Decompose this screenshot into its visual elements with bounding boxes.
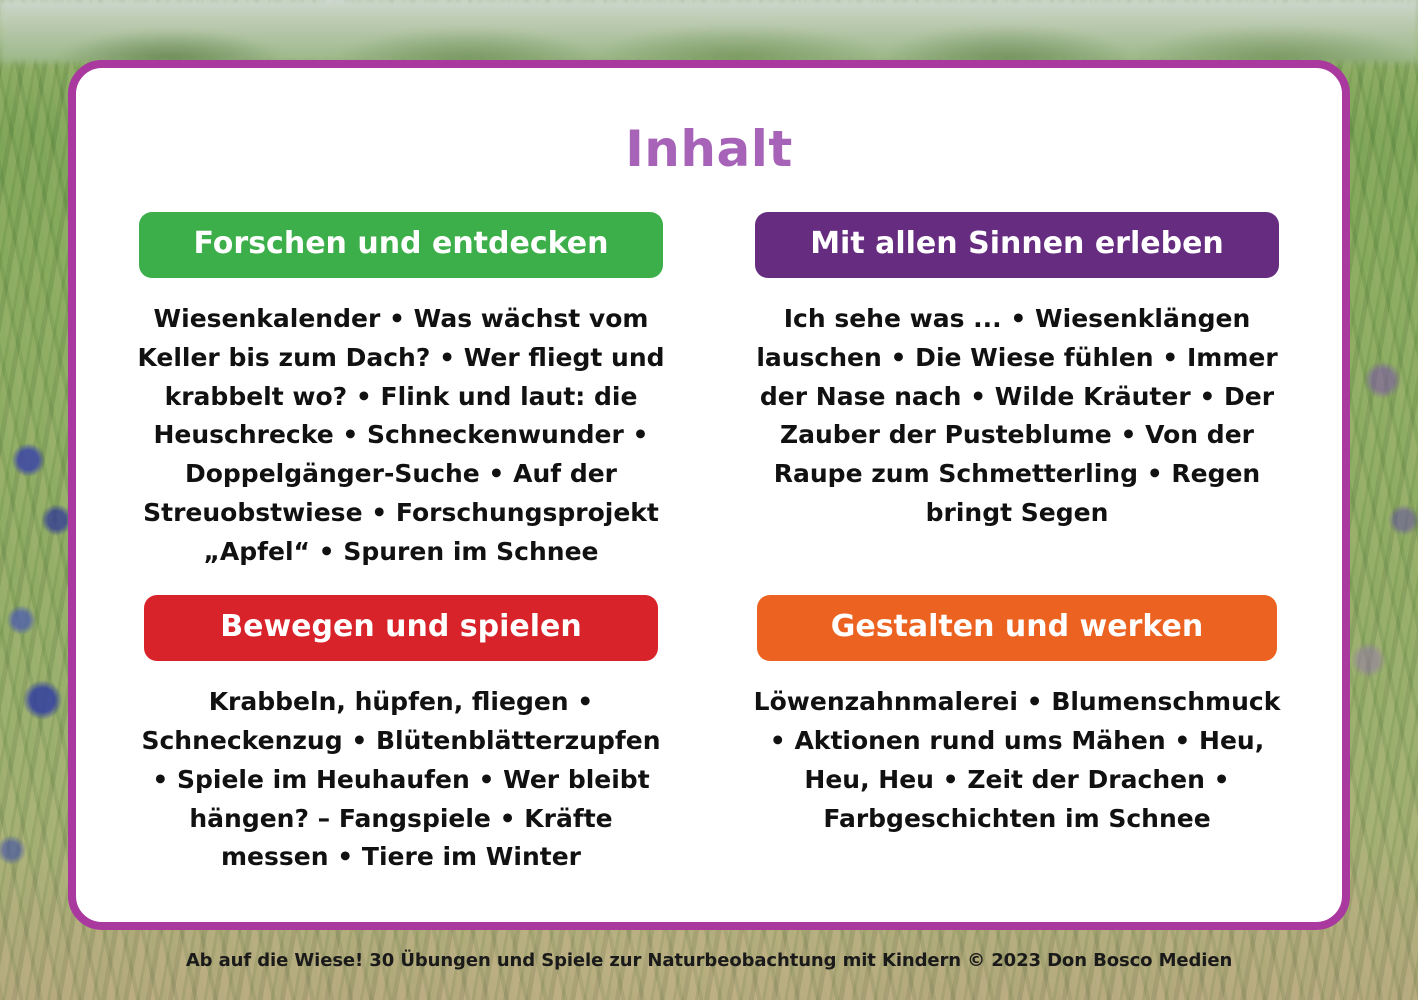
- section-forschen-und-entdecken: Forschen und entdecken Wiesenkalender • …: [128, 212, 674, 571]
- section-heading-gestalten-und-werken[interactable]: Gestalten und werken: [757, 595, 1277, 661]
- background-treeline: [0, 0, 1418, 62]
- section-heading-bewegen-und-spielen[interactable]: Bewegen und spielen: [144, 595, 658, 661]
- section-items-forschen-und-entdecken: Wiesenkalender • Was wächst vom Keller b…: [136, 300, 666, 571]
- section-bewegen-und-spielen: Bewegen und spielen Krabbeln, hüpfen, fl…: [128, 595, 674, 877]
- section-mit-allen-sinnen-erleben: Mit allen Sinnen erleben Ich sehe was ..…: [744, 212, 1290, 571]
- section-gestalten-und-werken: Gestalten und werken Löwenzahnmalerei • …: [744, 595, 1290, 877]
- sections-grid: Forschen und entdecken Wiesenkalender • …: [76, 178, 1342, 877]
- footer-credit: Ab auf die Wiese! 30 Übungen und Spiele …: [0, 950, 1418, 971]
- section-heading-forschen-und-entdecken[interactable]: Forschen und entdecken: [139, 212, 663, 278]
- section-items-mit-allen-sinnen-erleben: Ich sehe was ... • Wiesenklängen lausche…: [752, 300, 1282, 533]
- section-heading-mit-allen-sinnen-erleben[interactable]: Mit allen Sinnen erleben: [755, 212, 1279, 278]
- page-root: Inhalt Forschen und entdecken Wiesenkale…: [0, 0, 1418, 1000]
- page-title: Inhalt: [76, 68, 1342, 178]
- section-items-gestalten-und-werken: Löwenzahnmalerei • Blumenschmuck • Aktio…: [752, 683, 1282, 838]
- content-card: Inhalt Forschen und entdecken Wiesenkale…: [68, 60, 1350, 930]
- section-items-bewegen-und-spielen: Krabbeln, hüpfen, fliegen • Schneckenzug…: [136, 683, 666, 877]
